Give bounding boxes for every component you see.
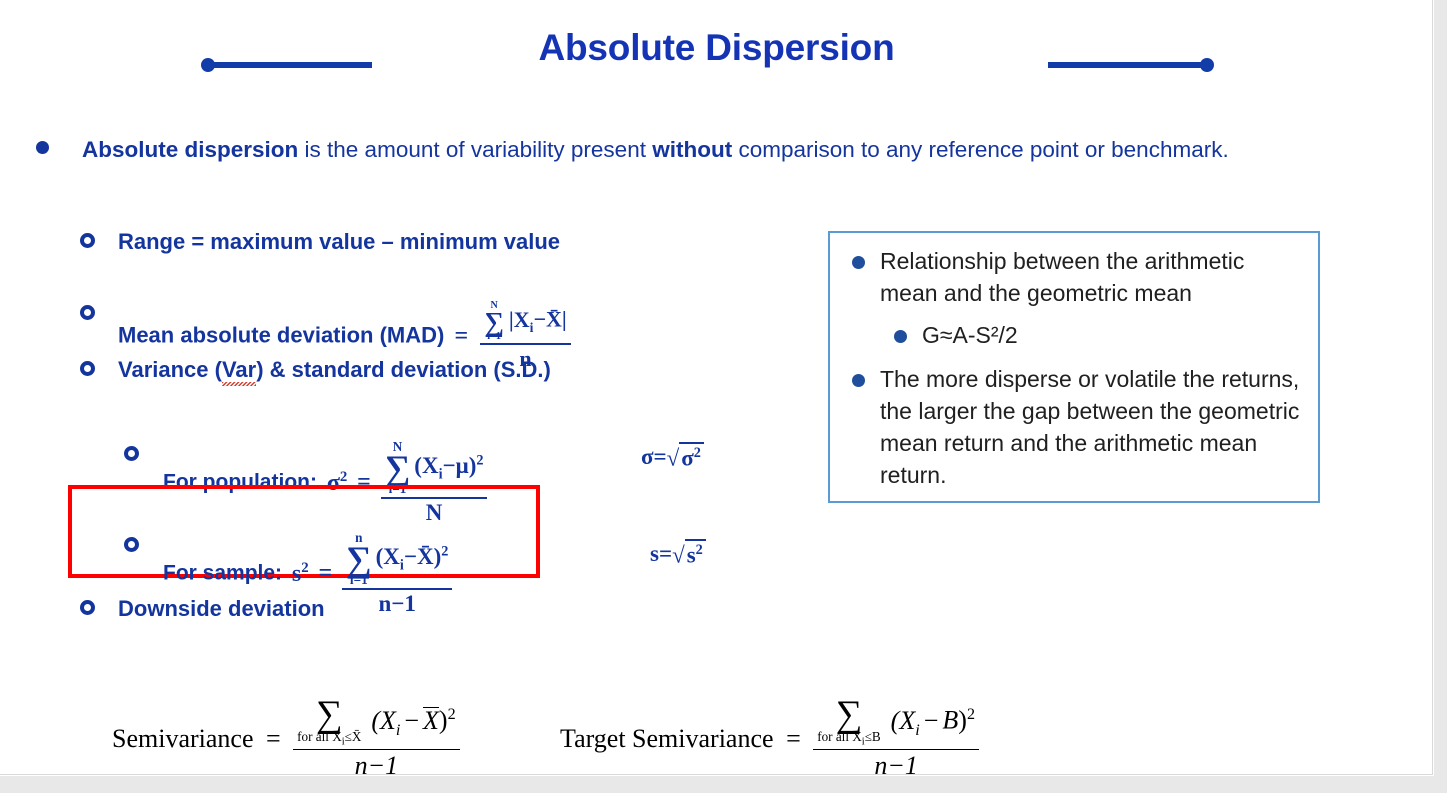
target-semivariance-numerator: ∑for all Xi≤B(Xi−B)2: [813, 697, 979, 750]
target-semivariance-fraction: ∑for all Xi≤B(Xi−B)2 n−1: [813, 697, 979, 775]
bullet-dot-icon: [852, 256, 865, 269]
sample-formula: n∑i=1(Xi−X̄)2 n−1: [342, 531, 452, 617]
main-bullet-text: Absolute dispersion is the amount of var…: [82, 130, 1326, 170]
info-box-subitem-1: G≈A-S²/2: [844, 319, 1304, 351]
sample-sd-formula: s=√s2: [650, 539, 706, 569]
population-sd-equals: =: [654, 444, 667, 470]
semivariance-equals: =: [266, 724, 281, 754]
sample-denominator: n−1: [342, 590, 452, 617]
slide-title: Absolute Dispersion: [0, 26, 1433, 70]
slide-canvas: Absolute Dispersion Absolute dispersion …: [0, 0, 1433, 775]
main-bullet-lead: Absolute dispersion: [82, 137, 298, 162]
info-box-item-1: Relationship between the arithmetic mean…: [844, 245, 1304, 309]
main-bullet-emph: without: [652, 137, 732, 162]
target-semivariance-label: Target Semivariance: [560, 724, 774, 754]
target-semivariance-denominator: n−1: [813, 750, 979, 775]
sample-lhs: s2: [292, 560, 309, 588]
target-semivariance-sum-condition: for all Xi≤B: [817, 730, 880, 749]
variance-post: ) & standard deviation (S.D.): [256, 357, 551, 382]
mad-num-rest: −X̄|: [533, 307, 566, 332]
page-margin-bottom: [0, 776, 1447, 793]
target-semivariance-num-var: B: [942, 706, 958, 735]
sample-sqrt: √s2: [672, 539, 706, 569]
sample-num-open: (X: [376, 544, 400, 569]
info-box-item-1-text: Relationship between the arithmetic mean…: [880, 248, 1244, 306]
population-radicand: σ2: [679, 442, 704, 472]
semivariance-num-close: ): [439, 706, 448, 735]
target-semivariance-equals: =: [786, 724, 801, 754]
info-box-item-2-text: The more disperse or volatile the return…: [880, 366, 1299, 488]
main-bullet: Absolute dispersion is the amount of var…: [36, 130, 1326, 170]
semivariance-num-minus: −: [404, 706, 419, 735]
main-bullet-mid: is the amount of variability present: [298, 137, 652, 162]
ring-bullet-icon-mad: [80, 305, 95, 320]
target-semivariance-num-minus: −: [924, 706, 939, 735]
ring-bullet-icon-downside: [80, 600, 95, 615]
mad-equals: =: [454, 323, 468, 350]
population-sd-formula: σ=√σ2: [641, 442, 704, 472]
page-margin-right: [1434, 0, 1447, 793]
sample-num-minus: −X̄): [404, 544, 441, 569]
ring-bullet-icon-sample: [124, 537, 139, 552]
ring-bullet-icon-range: [80, 233, 95, 248]
population-num-exp: 2: [476, 452, 483, 468]
semivariance-sum-condition: for all Xi≤X̄: [297, 730, 361, 749]
semivariance-num-open: (X: [371, 706, 396, 735]
slide-title-area: Absolute Dispersion: [0, 18, 1433, 82]
sub-bullet-variance: Variance (Var) & standard deviation (S.D…: [118, 357, 551, 383]
mad-label: Mean absolute deviation (MAD): [118, 323, 444, 348]
semivariance-numerator: ∑for all Xi≤X̄(Xi−X)2: [293, 697, 459, 750]
population-num-minus: −μ): [443, 453, 477, 478]
target-semivariance-num-sub: i: [915, 722, 919, 739]
variance-pre: Variance (: [118, 357, 222, 382]
sample-num-exp: 2: [441, 543, 448, 559]
title-decoration-right-line: [1048, 62, 1208, 68]
sub-bullet-downside-deviation: Downside deviation: [118, 596, 325, 622]
semivariance-num-exp: 2: [448, 706, 456, 723]
mad-num-open: |X: [509, 307, 530, 332]
mad-numerator: N∑i=1|Xi−X̄|: [480, 301, 570, 345]
target-semivariance-num-exp: 2: [967, 706, 975, 723]
population-sqrt: √σ2: [667, 442, 704, 472]
semivariance-num-sub: i: [396, 722, 400, 739]
semivariance-label: Semivariance: [112, 724, 254, 754]
title-decoration-right-dot: [1200, 58, 1214, 72]
sample-fraction: n∑i=1(Xi−X̄)2 n−1: [342, 531, 452, 617]
semivariance-formula: Semivariance = ∑for all Xi≤X̄(Xi−X)2 n−1: [112, 697, 460, 775]
bullet-dot-icon: [894, 330, 907, 343]
bullet-dot-icon: [852, 374, 865, 387]
semivariance-fraction: ∑for all Xi≤X̄(Xi−X)2 n−1: [293, 697, 459, 775]
main-bullet-tail: comparison to any reference point or ben…: [732, 137, 1229, 162]
sample-numerator: n∑i=1(Xi−X̄)2: [342, 531, 452, 590]
sample-label: For sample:: [163, 561, 282, 584]
sample-radicand: s2: [685, 539, 706, 569]
sample-equals: =: [319, 560, 333, 587]
target-semivariance-num-close: ): [958, 706, 967, 735]
ring-bullet-icon-variance: [80, 361, 95, 376]
variance-misspelled-word: Var: [222, 357, 256, 382]
info-box-item-2: The more disperse or volatile the return…: [844, 363, 1304, 491]
population-num-open: (X: [414, 453, 438, 478]
sub-bullet-range: Range = maximum value – minimum value: [118, 229, 560, 255]
semivariance-denominator: n−1: [293, 750, 459, 775]
bullet-dot-icon: [36, 141, 49, 154]
semivariance-num-var: X: [423, 707, 439, 734]
sample-sigma: n∑i=1: [346, 531, 372, 587]
target-semivariance-formula: Target Semivariance = ∑for all Xi≤B(Xi−B…: [560, 697, 979, 775]
semivariance-sigma: ∑for all Xi≤X̄: [297, 697, 361, 748]
sample-sd-lhs: s: [650, 541, 659, 567]
target-semivariance-num-open: (X: [891, 706, 916, 735]
population-sd-lhs: σ: [641, 444, 654, 470]
target-semivariance-sigma: ∑for all Xi≤B: [817, 697, 880, 748]
sample-sd-equals: =: [659, 541, 672, 567]
info-box-subitem-1-text: G≈A-S²/2: [922, 322, 1018, 348]
ring-bullet-icon-population: [124, 446, 139, 461]
mad-sigma: N∑i=1: [484, 301, 504, 342]
info-box: Relationship between the arithmetic mean…: [828, 231, 1320, 503]
